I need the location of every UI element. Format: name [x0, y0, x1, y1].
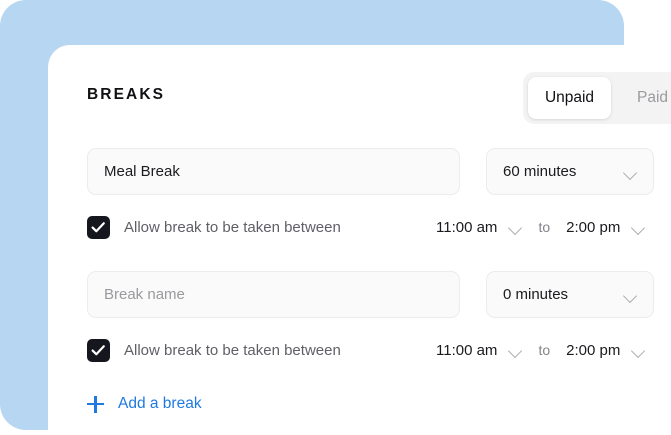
break-1-end-time-value: 2:00 pm — [566, 219, 620, 236]
break-2-duration-value: 0 minutes — [503, 286, 568, 303]
break-2-start-time-select[interactable]: 11:00 am — [436, 342, 522, 359]
break-2-allow-label: Allow break to be taken between — [124, 342, 341, 359]
add-break-label: Add a break — [118, 395, 202, 413]
pay-type-toggle[interactable]: Unpaid Paid — [523, 72, 671, 124]
break-2-duration-select[interactable]: 0 minutes — [486, 271, 654, 318]
toggle-option-paid[interactable]: Paid — [611, 77, 671, 119]
break-1-start-time-select[interactable]: 11:00 am — [436, 219, 522, 236]
chevron-down-icon — [632, 344, 645, 357]
break-1-allow-row: Allow break to be taken between 11:00 am… — [87, 214, 671, 240]
checkmark-icon — [91, 221, 106, 234]
break-1-duration-value: 60 minutes — [503, 163, 576, 180]
break-row-2: 0 minutes Allow break to be taken betwee… — [87, 271, 671, 363]
break-2-start-time-value: 11:00 am — [436, 342, 497, 359]
break-1-name-input[interactable] — [87, 148, 460, 195]
break-1-end-time-select[interactable]: 2:00 pm — [566, 219, 645, 236]
break-2-end-time-select[interactable]: 2:00 pm — [566, 342, 645, 359]
checkmark-icon — [91, 344, 106, 357]
break-1-start-time-value: 11:00 am — [436, 219, 497, 236]
chevron-down-icon — [509, 344, 522, 357]
break-2-allow-checkbox[interactable] — [87, 339, 110, 362]
break-1-duration-select[interactable]: 60 minutes — [486, 148, 654, 195]
break-1-allow-checkbox[interactable] — [87, 216, 110, 239]
break-row-1: 60 minutes Allow break to be taken betwe… — [87, 148, 671, 240]
break-1-time-separator: to — [538, 219, 550, 235]
break-2-end-time-value: 2:00 pm — [566, 342, 620, 359]
add-break-button[interactable]: Add a break — [87, 395, 202, 413]
screenshot-root: BREAKS Unpaid Paid 60 minutes — [0, 0, 671, 435]
break-2-main-row: 0 minutes — [87, 271, 671, 318]
break-2-time-group: 11:00 am to 2:00 pm — [436, 337, 645, 363]
chevron-down-icon — [624, 166, 637, 179]
breaks-card: BREAKS Unpaid Paid 60 minutes — [48, 45, 671, 435]
page-title: BREAKS — [87, 86, 165, 104]
break-2-name-input[interactable] — [87, 271, 460, 318]
chevron-down-icon — [509, 221, 522, 234]
toggle-option-unpaid[interactable]: Unpaid — [528, 77, 611, 119]
break-2-allow-row: Allow break to be taken between 11:00 am… — [87, 337, 671, 363]
break-1-main-row: 60 minutes — [87, 148, 671, 195]
break-1-allow-label: Allow break to be taken between — [124, 219, 341, 236]
chevron-down-icon — [632, 221, 645, 234]
plus-icon — [87, 396, 104, 413]
card-header: BREAKS Unpaid Paid — [87, 72, 671, 124]
break-2-time-separator: to — [538, 342, 550, 358]
chevron-down-icon — [624, 289, 637, 302]
break-1-time-group: 11:00 am to 2:00 pm — [436, 214, 645, 240]
